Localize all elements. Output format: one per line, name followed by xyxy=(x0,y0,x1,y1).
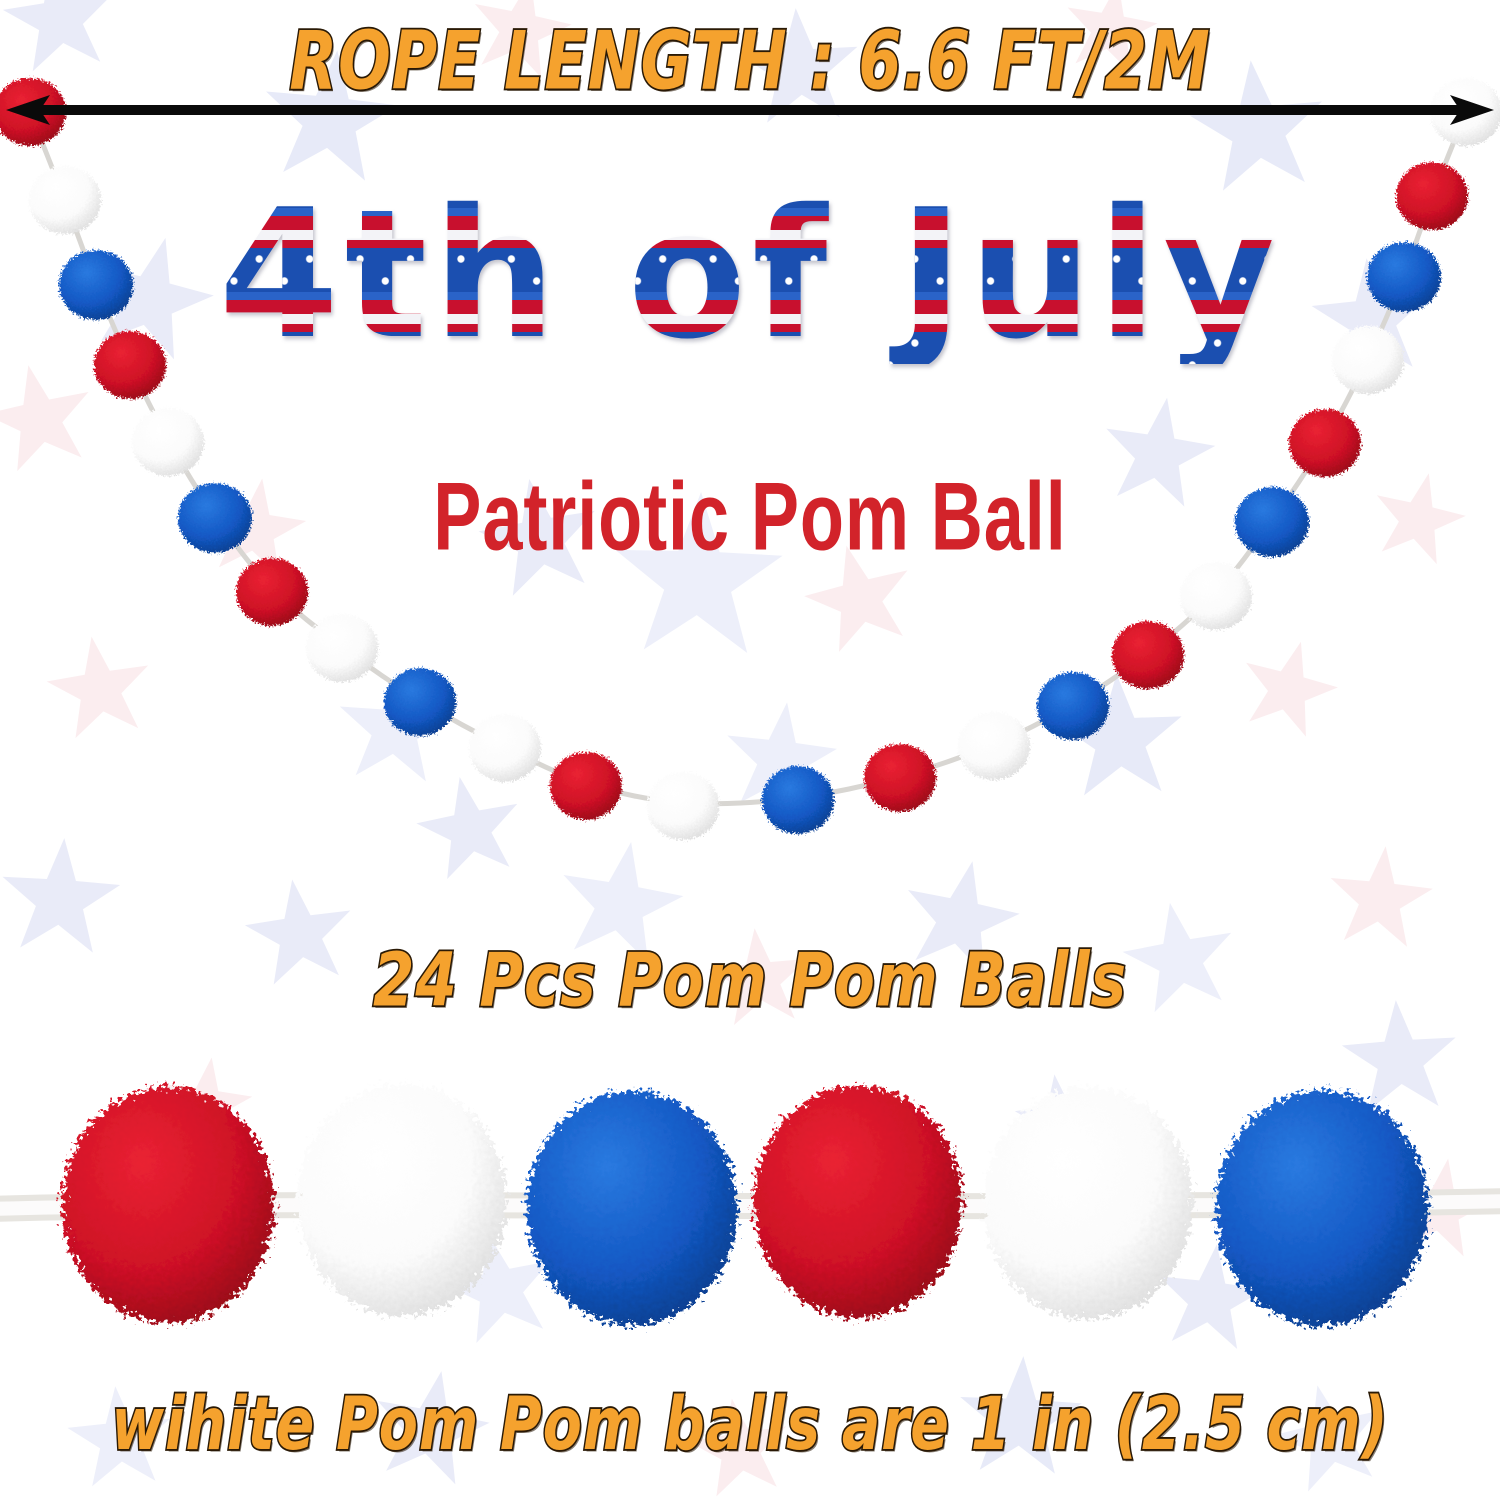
large-pom-ball-white xyxy=(984,1087,1193,1319)
large-pom-ball-blue xyxy=(527,1091,738,1325)
garland-pom-ball-blue xyxy=(384,668,456,736)
large-pom-ball-blue xyxy=(1216,1090,1428,1326)
garland-pom-ball-red xyxy=(1112,621,1184,689)
garland-pom-ball-white xyxy=(958,712,1030,780)
garland-pom-ball-white xyxy=(306,614,378,682)
large-pom-ball-red xyxy=(754,1086,963,1318)
large-pom-ball-red xyxy=(62,1087,274,1323)
piece-count-label: 24 Pcs Pom Pom Balls xyxy=(30,936,1470,1024)
page-title: 4th of July xyxy=(23,186,1478,364)
garland-pom-ball-white xyxy=(647,772,719,840)
large-pom-ball-white xyxy=(298,1084,507,1316)
garland-pom-ball-blue xyxy=(1037,672,1109,740)
garland-pom-ball-blue xyxy=(762,766,834,834)
pom-ball-size-row xyxy=(0,1045,1500,1375)
page-subtitle: Patriotic Pom Ball xyxy=(90,462,1410,573)
rope-length-label: ROPE LENGTH : 6.6 FT/2M xyxy=(45,14,1455,108)
garland-pom-ball-red xyxy=(550,752,622,820)
product-infographic: ROPE LENGTH : 6.6 FT/2M 4th of July 4th … xyxy=(0,0,1500,1499)
garland-pom-ball-red xyxy=(864,744,936,812)
garland-pom-ball-white xyxy=(469,714,541,782)
ball-size-label: wihite Pom Pom balls are 1 in (2.5 cm) xyxy=(38,1382,1463,1467)
